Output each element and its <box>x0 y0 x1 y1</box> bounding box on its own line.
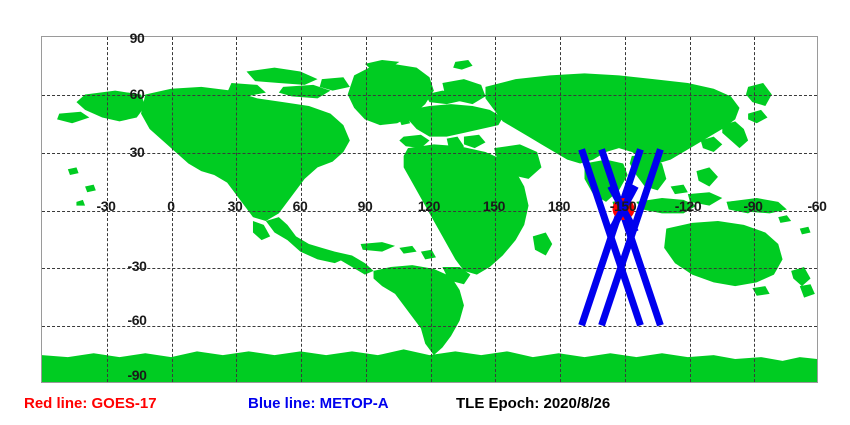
land-polygons <box>42 60 817 382</box>
sno-map-page: -30 0 30 60 90 120 150 180 -150 -120 -90… <box>0 0 850 425</box>
lon-label--90: -90 <box>743 199 762 213</box>
lon-label--150: -150 <box>610 199 636 213</box>
lat-label--30: -30 <box>127 259 146 273</box>
lat-label-60: 60 <box>130 87 145 101</box>
legend-blue-line: Blue line: METOP-A <box>248 396 389 411</box>
lat-label--90: -90 <box>127 368 146 382</box>
legend-tle-epoch: TLE Epoch: 2020/8/26 <box>456 396 610 411</box>
legend: Red line: GOES-17 Blue line: METOP-A TLE… <box>0 392 850 420</box>
lon-label--30: -30 <box>96 199 115 213</box>
lon-label-90: 90 <box>358 199 373 213</box>
lon-label-120: 120 <box>418 199 440 213</box>
lon-label-30: 30 <box>228 199 243 213</box>
lat-label-90: 90 <box>130 31 145 45</box>
lat-label--60: -60 <box>127 313 146 327</box>
lat-label-30: 30 <box>130 145 145 159</box>
lon-label--120: -120 <box>675 199 701 213</box>
lon-label--60: -60 <box>807 199 826 213</box>
legend-red-line: Red line: GOES-17 <box>24 396 157 411</box>
lon-label-0: 0 <box>167 199 174 213</box>
lon-label-150: 150 <box>483 199 505 213</box>
lon-label-60: 60 <box>293 199 308 213</box>
lon-label-180: 180 <box>548 199 570 213</box>
